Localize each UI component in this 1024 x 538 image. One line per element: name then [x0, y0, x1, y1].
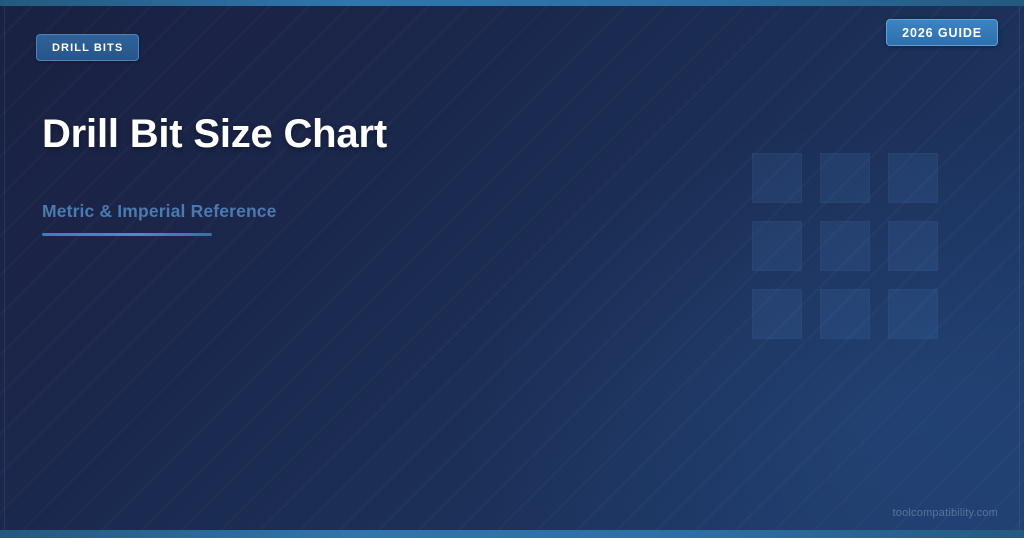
decorative-square-grid: [752, 153, 938, 339]
decor-square: [752, 221, 802, 271]
decor-square: [820, 221, 870, 271]
site-watermark: toolcompatibility.com: [893, 507, 998, 519]
decor-square: [888, 221, 938, 271]
bottom-accent-bar: [0, 530, 1024, 538]
top-accent-bar: [0, 0, 1024, 6]
decor-square: [820, 289, 870, 339]
page-subtitle: Metric & Imperial Reference: [42, 157, 387, 222]
decor-square: [888, 153, 938, 203]
headline-block: Drill Bit Size Chart Metric & Imperial R…: [42, 112, 387, 236]
decor-square: [820, 153, 870, 203]
decor-square: [752, 289, 802, 339]
page-title: Drill Bit Size Chart: [42, 112, 387, 157]
hero-banner: DRILL BITS 2026 GUIDE Drill Bit Size Cha…: [0, 0, 1024, 538]
year-guide-badge[interactable]: 2026 GUIDE: [886, 19, 998, 46]
decor-square: [888, 289, 938, 339]
category-badge[interactable]: DRILL BITS: [36, 34, 139, 61]
decor-square: [752, 153, 802, 203]
subtitle-underline: [42, 233, 212, 236]
